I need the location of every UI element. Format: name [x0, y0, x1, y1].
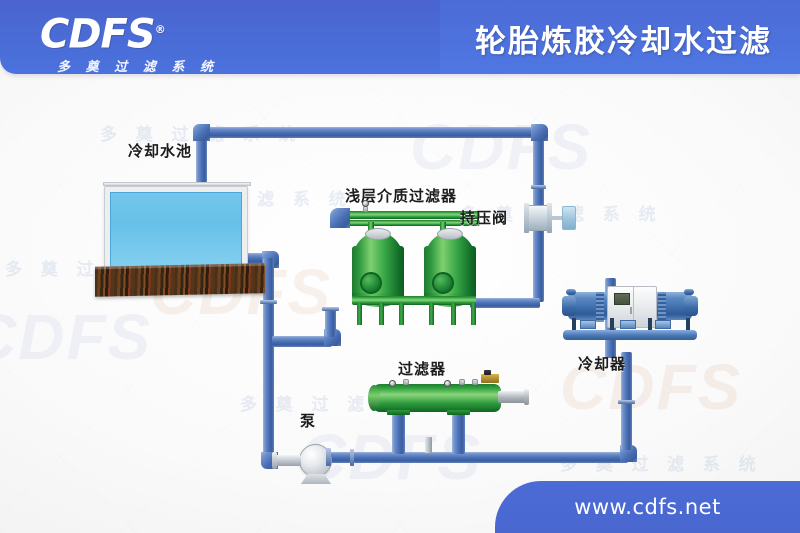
label-pressure-valve: 持压阀 — [460, 207, 508, 228]
pressure-sustaining-valve — [527, 205, 549, 231]
cooler-head-right — [684, 296, 698, 316]
logo-text: CDFS — [40, 11, 155, 57]
cooler-foot — [572, 318, 576, 330]
cooler-head-left — [562, 296, 576, 316]
cooler-vent-right — [684, 289, 694, 295]
pool-water — [110, 192, 242, 268]
cooling-pool — [104, 186, 248, 274]
filter-brass-fitting — [481, 374, 499, 383]
tank-leg — [429, 303, 434, 325]
pump-base — [301, 474, 331, 484]
media-filter-bottom-manifold — [352, 296, 476, 305]
website-url[interactable]: www.cdfs.net — [574, 495, 721, 519]
valve-flange-left — [524, 203, 529, 233]
pool-ground — [95, 263, 265, 297]
cooler-nozzle-box-right — [655, 320, 671, 329]
pump-suction-flange — [272, 452, 277, 469]
pipe-branch-mid — [272, 336, 332, 347]
page-footer: www.cdfs.net — [495, 481, 800, 533]
tank-leg — [451, 303, 456, 325]
tank-leg — [399, 303, 404, 325]
page-title: 轮胎炼胶冷却水过滤 — [475, 16, 772, 61]
label-pump: 泵 — [300, 410, 316, 431]
label-cooling-pool: 冷却水池 — [128, 140, 192, 161]
pipe-drain-stub — [425, 437, 432, 453]
tank-shell — [424, 246, 476, 300]
filter-leg-flange-right — [447, 410, 470, 415]
screenshot-root: CDFS CDFS CDFS CDFS CDFS 多 奠 过 滤 系 统 多 奠… — [0, 0, 800, 533]
process-diagram: 冷却水池 浅层介质过滤器 — [0, 0, 800, 533]
media-filter-tank-left — [352, 232, 404, 300]
filter-vent-valve-right — [472, 379, 478, 385]
tank-manhole — [365, 228, 391, 240]
logo-wordmark: CDFS® — [40, 9, 236, 55]
horizontal-filter-body — [373, 384, 501, 412]
logo-subtitle: 多 奠 过 滤 系 统 — [40, 56, 236, 75]
filter-end-cap-left — [368, 385, 380, 411]
pipe-flange — [322, 307, 339, 311]
label-cooler: 冷却器 — [578, 353, 626, 374]
pump-discharge-flange — [326, 448, 331, 466]
tank-side-port — [360, 272, 382, 294]
cooler-nozzle-box-left — [580, 320, 596, 329]
tank-leg — [471, 303, 476, 325]
cooler-foot — [686, 318, 690, 330]
filter-vent-valve-left — [403, 379, 409, 385]
tank-leg — [357, 303, 362, 325]
pipe-filter-feed-riser — [325, 307, 336, 337]
pipe-elbow-topright — [531, 124, 548, 141]
cooler-foot — [648, 318, 652, 330]
tank-side-port — [432, 272, 454, 294]
pipe-flange — [531, 185, 546, 189]
cooler-base-pipe — [563, 330, 697, 340]
filter-gauge-icon-left — [389, 380, 396, 387]
registered-mark-icon: ® — [155, 23, 165, 36]
cooler-fin-right — [658, 292, 666, 322]
filter-vent-valve-mid — [459, 379, 465, 385]
filter-leg-flange-left — [387, 410, 410, 415]
cooler-nozzle-box-mid — [620, 320, 636, 329]
cabinet-handle — [630, 307, 632, 314]
brand-logo[interactable]: CDFS® 多 奠 过 滤 系 统 — [40, 9, 236, 75]
cooler-fin-left — [596, 292, 604, 322]
valve-actuator — [562, 206, 576, 230]
pipe-filter-leg-right — [452, 412, 465, 454]
tank-shell — [352, 246, 404, 300]
media-filter-tank-right — [424, 232, 476, 300]
pipe-flange — [350, 449, 354, 466]
media-filter-inlet-elbow — [330, 208, 350, 228]
cooler-display-screen — [614, 293, 630, 305]
pipe-bottom-main — [318, 452, 628, 463]
tank-leg — [379, 303, 384, 325]
pipe-top-main — [196, 127, 544, 138]
cooler-vent-left — [566, 289, 576, 295]
pipe-filter-leg-left — [392, 412, 405, 454]
label-filter: 过滤器 — [398, 358, 446, 379]
tank-manhole — [437, 228, 463, 240]
filter-sensor-cap — [484, 370, 491, 375]
cooler-foot — [610, 318, 614, 330]
pipe-flange — [260, 300, 277, 304]
filter-outlet-flange — [524, 389, 529, 405]
filter-gauge-icon-right — [444, 380, 451, 387]
pipe-elbow-topleft — [193, 124, 210, 141]
pressure-gauge-icon — [362, 200, 369, 207]
page-header: CDFS® 多 奠 过 滤 系 统 轮胎炼胶冷却水过滤 — [0, 0, 800, 74]
pipe-flange — [618, 400, 635, 404]
pipe-filter-outlet — [470, 298, 540, 308]
pump-suction-pipe — [275, 455, 301, 466]
